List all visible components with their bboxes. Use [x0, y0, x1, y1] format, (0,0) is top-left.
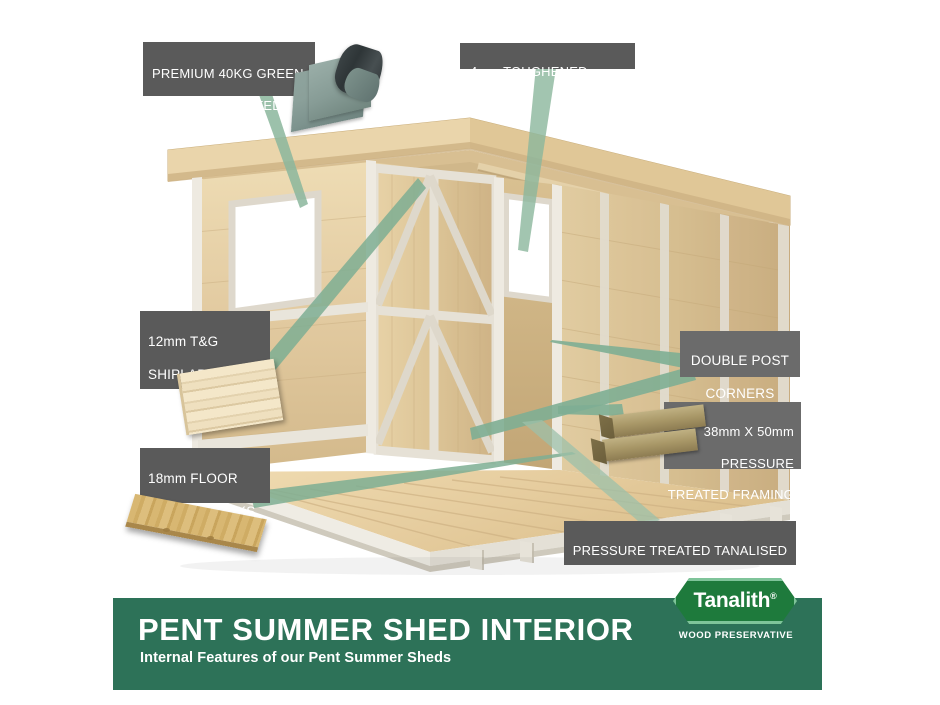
callout-line: 4mm TOUGHENED GLASS	[470, 64, 635, 96]
premium-felt-callout: PREMIUM 40KG GREEN MINERAL SHED FELT	[143, 42, 315, 96]
floor-plank-swatch	[129, 492, 263, 570]
registered-mark: ®	[770, 591, 776, 601]
callout-line: 18mm FLOOR	[148, 471, 270, 487]
infographic-canvas: PREMIUM 40KG GREEN MINERAL SHED FELT 4mm…	[0, 0, 940, 705]
callout-line: 12mm T&G	[148, 334, 270, 350]
tanalith-brand-text: Tanalith	[694, 589, 771, 612]
tanalith-hex-badge: Tanalith®	[673, 578, 797, 624]
callout-line: PREMIUM 40KG GREEN	[152, 66, 315, 82]
callout-line: PRESSURE TREATED TANALISED	[568, 543, 792, 559]
treated-batten-swatch	[603, 396, 708, 468]
shiplap-board	[177, 359, 283, 436]
page-subtitle: Internal Features of our Pent Summer She…	[140, 650, 451, 666]
floor-plank-board	[125, 494, 267, 552]
shiplap-board-swatch	[181, 366, 279, 428]
felt-roll-swatch	[293, 44, 383, 128]
callout-line: MINERAL SHED FELT	[152, 98, 315, 114]
double-post-corners-callout: DOUBLE POST CORNERS	[680, 331, 800, 377]
callout-line: DOUBLE POST	[686, 353, 794, 369]
tanalised-timber-callout: PRESSURE TREATED TANALISED TIMBER MATERI…	[564, 521, 796, 565]
plank-knot	[163, 528, 170, 532]
callout-line: TREATED FRAMING	[664, 487, 794, 503]
page-title: PENT SUMMER SHED INTERIOR	[138, 612, 634, 648]
toughened-glass-callout: 4mm TOUGHENED GLASS	[460, 43, 635, 69]
tanalith-tagline: WOOD PRESERVATIVE	[665, 630, 807, 641]
plank-knot	[207, 536, 214, 540]
tanalith-logo: Tanalith® WOOD PRESERVATIVE	[665, 578, 807, 656]
pointer-shiplap	[258, 178, 428, 378]
tanalith-brand: Tanalith®	[694, 589, 777, 613]
